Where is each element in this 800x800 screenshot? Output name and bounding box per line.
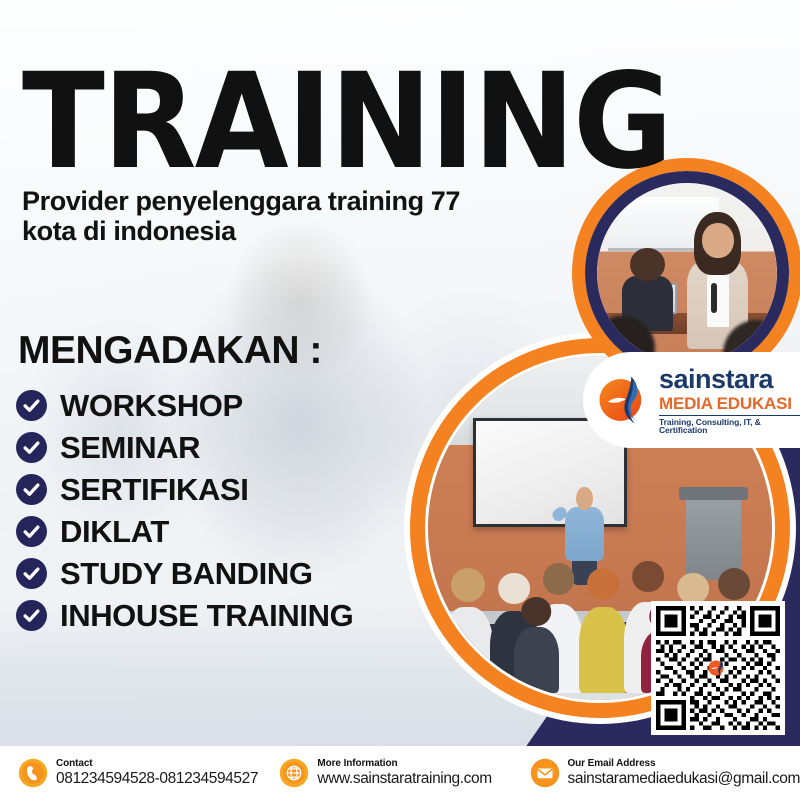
globe-icon [279,758,309,788]
check-icon [16,600,47,631]
sainstara-logo-icon [595,371,653,429]
list-item: STUDY BANDING [16,558,353,589]
website-value: www.sainstaratraining.com [317,771,491,787]
service-label: STUDY BANDING [60,558,313,589]
services-list: WORKSHOP SEMINAR SERTIFIKASI DIKLAT STUD… [16,390,353,642]
check-icon [16,516,47,547]
email-value: sainstaramediaedukasi@gmail.com [568,771,800,787]
service-label: DIKLAT [60,516,169,547]
check-icon [16,432,47,463]
logo-name: sainstara [659,366,800,393]
headline-block: TRAINING Provider penyelenggara training… [22,68,562,247]
service-label: SERTIFIKASI [60,474,249,505]
footer-bar: Contact 081234594528-081234594527 [0,746,800,800]
brand-logo: sainstara MEDIA EDUKASI Training, Consul… [583,352,800,448]
check-icon [16,390,47,421]
footer-website[interactable]: More Information www.sainstaratraining.c… [261,758,511,788]
logo-tagline: Training, Consulting, IT, & Certificatio… [659,418,800,435]
qr-center-logo-icon [707,657,729,679]
check-icon [16,474,47,505]
section-heading: MENGADAKAN : [18,329,322,373]
phone-icon [18,758,48,788]
service-label: INHOUSE TRAINING [60,600,353,631]
contact-label: Contact [56,759,258,770]
qr-code[interactable] [651,601,785,735]
list-item: SEMINAR [16,432,353,463]
service-label: SEMINAR [60,432,200,463]
logo-subtitle: MEDIA EDUKASI [659,395,800,412]
navy-ring [585,171,789,375]
speaker-photo [597,183,777,363]
list-item: SERTIFIKASI [16,474,353,505]
email-label: Our Email Address [568,759,800,770]
check-icon [16,558,47,589]
website-label: More Information [317,759,491,770]
logo-divider [659,415,800,416]
envelope-icon [530,758,560,788]
list-item: INHOUSE TRAINING [16,600,353,631]
list-item: WORKSHOP [16,390,353,421]
list-item: DIKLAT [16,516,353,547]
poster: sainstara MEDIA EDUKASI Training, Consul… [0,0,800,800]
contact-value: 081234594528-081234594527 [56,771,258,787]
footer-email[interactable]: Our Email Address sainstaramediaedukasi@… [512,758,800,788]
service-label: WORKSHOP [60,390,243,421]
footer-contact[interactable]: Contact 081234594528-081234594527 [0,758,261,788]
page-title: TRAINING [22,68,519,176]
